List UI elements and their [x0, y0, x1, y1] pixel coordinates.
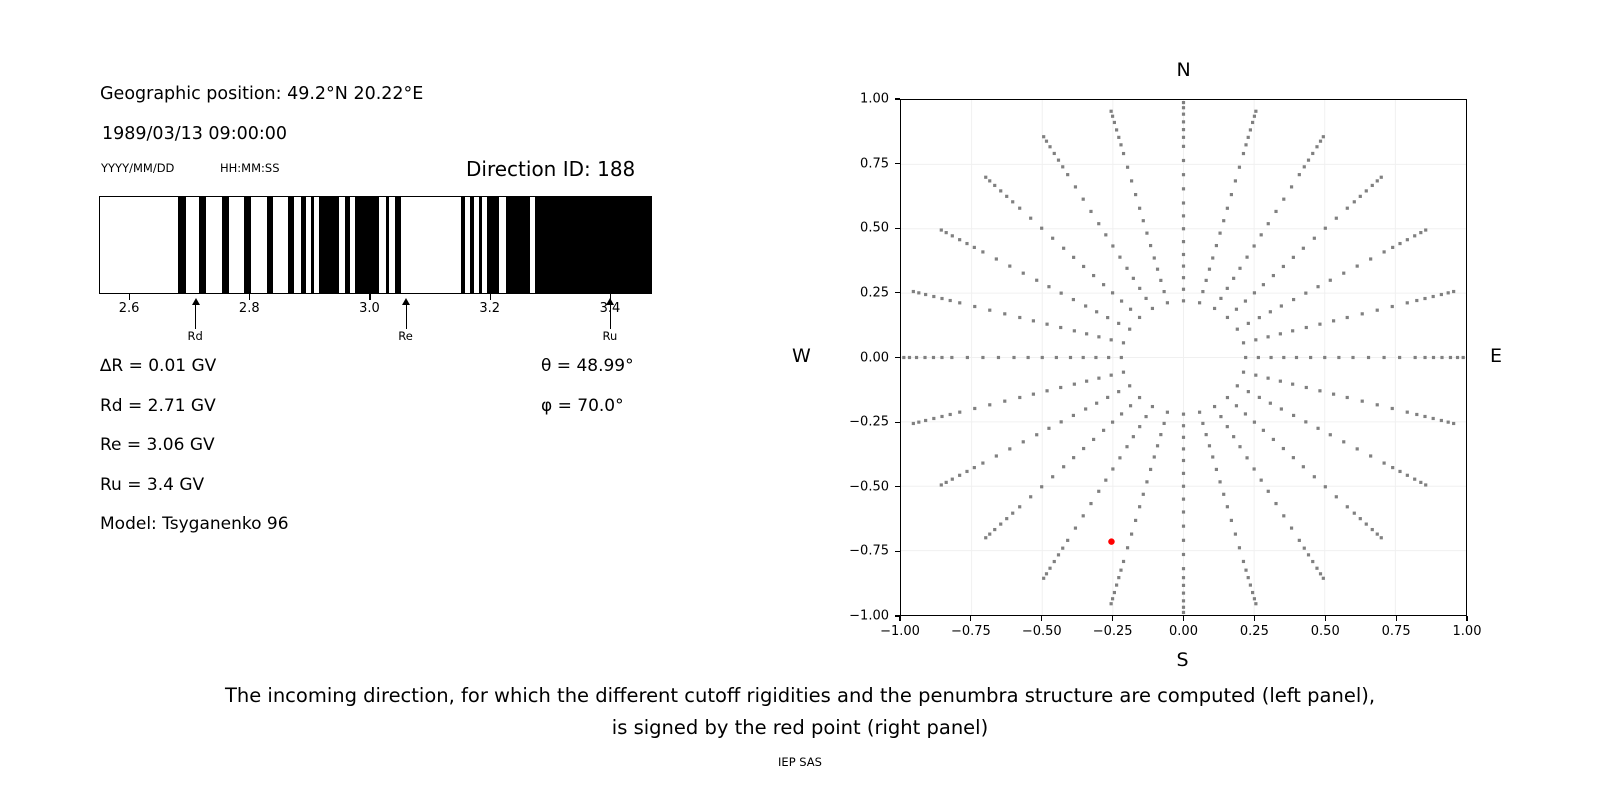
direction-point — [1110, 374, 1113, 377]
direction-point — [1315, 145, 1318, 148]
y-tick-label: −1.00 — [836, 609, 889, 624]
direction-point — [1182, 539, 1185, 542]
direction-point — [1055, 356, 1058, 359]
direction-point — [1245, 256, 1248, 259]
direction-point — [1282, 447, 1285, 450]
direction-point — [1346, 207, 1349, 210]
direction-point — [1242, 560, 1245, 563]
direction-point — [1415, 299, 1418, 302]
direction-point — [1230, 193, 1233, 196]
direction-point — [1084, 407, 1087, 410]
penumbra-band — [479, 197, 483, 293]
y-tick — [895, 551, 900, 552]
direction-point — [1159, 433, 1162, 436]
direction-point — [1106, 396, 1109, 399]
date-format-hint: YYYY/MM/DD — [101, 161, 174, 175]
caption-line-2: is signed by the red point (right panel) — [0, 712, 1600, 744]
direction-point — [1234, 533, 1237, 536]
direction-point — [1182, 187, 1185, 190]
direction-point — [1045, 389, 1048, 392]
direction-point — [1018, 207, 1021, 210]
direction-point — [940, 228, 943, 231]
direction-point — [1302, 247, 1305, 250]
direction-point — [1059, 326, 1062, 329]
direction-point — [1305, 386, 1308, 389]
direction-point — [1258, 396, 1261, 399]
rigidity-marker-label: Ru — [603, 329, 618, 343]
direction-point — [1232, 435, 1235, 438]
direction-point — [1138, 316, 1141, 319]
direction-point — [1053, 152, 1056, 155]
direction-point — [981, 356, 984, 359]
direction-point — [997, 356, 1000, 359]
direction-point — [1182, 288, 1185, 291]
direction-point — [1018, 505, 1021, 508]
direction-point — [1267, 222, 1270, 225]
direction-point — [1316, 427, 1319, 430]
direction-point — [1371, 528, 1374, 531]
direction-point — [1380, 536, 1383, 539]
penumbra-band — [199, 197, 206, 293]
direction-point — [966, 356, 969, 359]
direction-point — [1111, 244, 1114, 247]
direction-point — [1035, 433, 1038, 436]
penumbra-band — [178, 197, 186, 293]
direction-point — [1118, 256, 1121, 259]
penumbra-band — [487, 197, 499, 293]
direction-point — [1449, 356, 1452, 359]
direction-point — [1182, 592, 1185, 595]
direction-point — [1095, 402, 1098, 405]
y-tick — [895, 422, 900, 423]
direction-point — [917, 421, 920, 424]
direction-point — [940, 483, 943, 486]
direction-point — [908, 356, 911, 359]
direction-point — [945, 481, 948, 484]
penumbra-tick — [490, 294, 491, 300]
direction-point — [1122, 371, 1125, 374]
direction-point — [1110, 338, 1113, 341]
direction-point — [1371, 184, 1374, 187]
direction-point — [1452, 422, 1455, 425]
direction-point — [1280, 304, 1283, 307]
direction-point — [1182, 567, 1185, 570]
parameter-line: Re = 3.06 GV — [100, 435, 215, 455]
penumbra-band — [355, 197, 379, 293]
y-tick — [895, 163, 900, 164]
y-tick — [895, 98, 900, 99]
direction-point — [1205, 279, 1208, 282]
direction-point — [1182, 201, 1185, 204]
direction-point — [1089, 210, 1092, 213]
direction-point — [1247, 576, 1250, 579]
direction-point — [1324, 227, 1327, 230]
direction-point — [1095, 310, 1098, 313]
compass-label-west: W — [792, 345, 811, 367]
direction-point — [1215, 244, 1218, 247]
direction-point — [1182, 128, 1185, 131]
direction-point — [1244, 299, 1247, 302]
direction-point — [1424, 483, 1427, 486]
x-tick — [970, 616, 971, 621]
caption-line-1: The incoming direction, for which the di… — [0, 680, 1600, 712]
direction-point — [1251, 591, 1254, 594]
direction-point — [1269, 402, 1272, 405]
direction-point — [1138, 505, 1141, 508]
direction-point — [1122, 341, 1125, 344]
direction-point — [1398, 242, 1401, 245]
direction-point — [1085, 380, 1088, 383]
direction-point — [1260, 233, 1263, 236]
direction-point — [1051, 237, 1054, 240]
direction-point — [1419, 481, 1422, 484]
direction-point — [981, 250, 984, 253]
direction-point — [1040, 485, 1043, 488]
direction-point — [1235, 308, 1238, 311]
direction-point — [1251, 121, 1254, 124]
direction-point — [1247, 390, 1250, 393]
direction-point — [1182, 472, 1185, 475]
direction-point — [1315, 567, 1318, 570]
direction-point — [1166, 301, 1169, 304]
direction-point — [1008, 264, 1011, 267]
direction-point — [1423, 297, 1426, 300]
direction-point — [1307, 553, 1310, 556]
y-tick — [895, 357, 900, 358]
direction-point — [1182, 101, 1185, 104]
direction-point — [1365, 523, 1368, 526]
direction-point — [1452, 290, 1455, 293]
direction-point — [1298, 539, 1301, 542]
direction-point — [1304, 292, 1307, 295]
direction-point — [1254, 338, 1257, 341]
direction-point — [1062, 247, 1065, 250]
direction-point — [1072, 256, 1075, 259]
direction-point — [1266, 335, 1269, 338]
direction-point — [1045, 140, 1048, 143]
direction-point — [995, 454, 998, 457]
direction-point — [1267, 490, 1270, 493]
direction-point — [1346, 505, 1349, 508]
penumbra-band — [319, 197, 339, 293]
direction-point — [1238, 267, 1241, 270]
direction-point — [1182, 264, 1185, 267]
x-tick-label: 0.50 — [1311, 624, 1340, 639]
direction-point — [1391, 407, 1394, 410]
direction-point — [1198, 411, 1201, 414]
direction-point — [1219, 297, 1222, 300]
direction-point — [949, 413, 952, 416]
direction-point — [1066, 539, 1069, 542]
direction-point — [1029, 217, 1032, 220]
direction-point — [1074, 527, 1077, 530]
direction-point — [1149, 468, 1152, 471]
direction-point — [1249, 583, 1252, 586]
direction-point — [1218, 232, 1221, 235]
direction-point — [1003, 400, 1006, 403]
direction-point — [1115, 128, 1118, 131]
direction-point — [1415, 413, 1418, 416]
direction-point — [988, 179, 991, 182]
direction-point — [1291, 329, 1294, 332]
direction-point — [1208, 444, 1211, 447]
direction-point — [1008, 447, 1011, 450]
direction-point — [1011, 200, 1014, 203]
direction-point — [1313, 475, 1316, 478]
direction-point — [1323, 356, 1326, 359]
direction-point — [1182, 606, 1185, 609]
direction-point — [958, 411, 961, 414]
direction-point — [1082, 198, 1085, 201]
direction-point — [1201, 422, 1204, 425]
direction-point — [1238, 166, 1241, 169]
direction-point — [1060, 292, 1063, 295]
direction-point — [1126, 546, 1129, 549]
direction-point — [1253, 115, 1256, 118]
direction-point — [1226, 505, 1229, 508]
direction-point — [1332, 393, 1335, 396]
direction-point — [1144, 415, 1147, 418]
direction-point — [1335, 217, 1338, 220]
direction-point — [1359, 517, 1362, 520]
direction-point — [1247, 136, 1250, 139]
direction-point — [1003, 312, 1006, 315]
direction-point — [1253, 421, 1256, 424]
direction-point — [1084, 304, 1087, 307]
direction-point — [1107, 356, 1110, 359]
direction-point — [1391, 246, 1394, 249]
direction-point — [1244, 143, 1247, 146]
direction-point — [1298, 173, 1301, 176]
direction-point — [1383, 461, 1386, 464]
direction-point — [1057, 159, 1060, 162]
direction-point — [1254, 374, 1257, 377]
compass-label-north: N — [1177, 59, 1191, 81]
direction-point — [1376, 403, 1379, 406]
direction-point — [1309, 356, 1312, 359]
direction-point — [1406, 301, 1409, 304]
direction-point — [1342, 272, 1345, 275]
direction-point — [958, 238, 961, 241]
direction-point — [1102, 283, 1105, 286]
direction-point — [1053, 560, 1056, 563]
direction-point — [1380, 176, 1383, 179]
direction-point — [1182, 214, 1185, 217]
y-tick — [895, 292, 900, 293]
direction-point — [1266, 377, 1269, 380]
direction-point — [1319, 572, 1322, 575]
direction-point — [1048, 567, 1051, 570]
direction-point — [1163, 290, 1166, 293]
direction-point — [1138, 425, 1141, 428]
parameter-line: Ru = 3.4 GV — [100, 475, 204, 495]
direction-point — [1151, 405, 1154, 408]
direction-point — [1005, 517, 1008, 520]
direction-point — [1151, 307, 1154, 310]
direction-point — [1097, 490, 1100, 493]
penumbra-band — [267, 197, 273, 293]
direction-point — [1018, 316, 1021, 319]
direction-point — [981, 461, 984, 464]
direction-point — [1115, 583, 1118, 586]
direction-point — [1419, 231, 1422, 234]
direction-point — [988, 403, 991, 406]
angle-parameter-line: φ = 70.0° — [541, 396, 624, 416]
direction-point — [1215, 468, 1218, 471]
direction-point — [902, 356, 905, 359]
compass-label-south: S — [1177, 649, 1189, 671]
direction-point — [1097, 377, 1100, 380]
direction-map-panel: −1.00−0.75−0.50−0.250.000.250.500.751.00… — [790, 30, 1580, 650]
direction-point — [1447, 421, 1450, 424]
direction-point — [1145, 232, 1148, 235]
y-tick — [895, 486, 900, 487]
direction-point — [1274, 502, 1277, 505]
direction-point — [965, 242, 968, 245]
direction-point — [1120, 412, 1123, 415]
direction-point — [984, 176, 987, 179]
direction-point — [912, 422, 915, 425]
y-tick-label: 0.00 — [836, 350, 889, 365]
figure-caption: The incoming direction, for which the di… — [0, 680, 1600, 744]
direction-point — [1218, 480, 1221, 483]
direction-point — [924, 293, 927, 296]
direction-point — [1222, 219, 1225, 222]
direction-point — [1226, 207, 1229, 210]
x-tick — [1112, 616, 1113, 621]
direction-point — [1042, 577, 1045, 580]
direction-point — [1329, 433, 1332, 436]
direction-point — [1316, 285, 1319, 288]
direction-point — [1153, 455, 1156, 458]
direction-point — [1282, 198, 1285, 201]
direction-point — [1182, 459, 1185, 462]
direction-point — [1295, 356, 1298, 359]
direction-point — [1303, 547, 1306, 550]
penumbra-tick-label: 3.2 — [479, 301, 500, 316]
direction-point — [1072, 456, 1075, 459]
direction-point — [940, 297, 943, 300]
direction-point — [1383, 250, 1386, 253]
direction-point — [1072, 298, 1075, 301]
direction-point — [958, 474, 961, 477]
direction-point — [1182, 485, 1185, 488]
penumbra-tick-label: 3.0 — [359, 301, 380, 316]
direction-point — [1111, 421, 1114, 424]
direction-point — [1272, 274, 1275, 277]
selected-direction-point — [1108, 538, 1114, 544]
penumbra-band — [311, 197, 314, 293]
direction-point — [940, 415, 943, 418]
y-tick-label: 0.25 — [836, 285, 889, 300]
direction-point — [1144, 297, 1147, 300]
direction-point — [1128, 384, 1131, 387]
direction-point — [1182, 227, 1185, 230]
direction-point — [1318, 323, 1321, 326]
direction-point — [1106, 316, 1109, 319]
arrow-shaft — [406, 303, 407, 329]
direction-point — [1113, 591, 1116, 594]
direction-point — [1398, 470, 1401, 473]
direction-point — [1125, 267, 1128, 270]
footer-label: IEP SAS — [0, 755, 1600, 769]
direction-point — [1182, 413, 1185, 416]
direction-point — [1234, 179, 1237, 182]
direction-point — [1057, 553, 1060, 556]
direction-point — [1032, 393, 1035, 396]
direction-point — [1242, 152, 1245, 155]
direction-point — [1104, 479, 1107, 482]
penumbra-tick-label: 2.6 — [119, 301, 140, 316]
penumbra-tick — [249, 294, 250, 300]
direction-point — [1304, 420, 1307, 423]
direction-point — [1182, 240, 1185, 243]
direction-point — [1156, 268, 1159, 271]
direction-point — [1432, 356, 1435, 359]
direction-point — [1110, 110, 1113, 113]
direction-point — [1307, 159, 1310, 162]
penumbra-band — [222, 197, 229, 293]
direction-point — [917, 291, 920, 294]
direction-point — [1262, 283, 1265, 286]
direction-point — [1198, 301, 1201, 304]
direction-point — [1353, 200, 1356, 203]
direction-point — [1406, 411, 1409, 414]
direction-point — [1346, 316, 1349, 319]
direction-point — [1361, 312, 1364, 315]
penumbra-band — [288, 197, 293, 293]
direction-point — [1060, 420, 1063, 423]
rigidity-marker-label: Rd — [188, 329, 203, 343]
y-tick-label: 0.50 — [836, 221, 889, 236]
direction-point — [1048, 145, 1051, 148]
direction-point — [1182, 436, 1185, 439]
direction-point — [1245, 456, 1248, 459]
direction-point — [1041, 356, 1044, 359]
direction-point — [1113, 121, 1116, 124]
direction-point — [1153, 256, 1156, 259]
direction-point — [1132, 435, 1135, 438]
direction-point — [1129, 308, 1132, 311]
direction-point — [932, 356, 935, 359]
direction-point — [1142, 219, 1145, 222]
direction-point — [1356, 447, 1359, 450]
direction-point — [1035, 279, 1038, 282]
x-tick — [899, 616, 900, 621]
direction-point — [999, 189, 1002, 192]
direction-point — [1244, 412, 1247, 415]
direction-point — [1391, 466, 1394, 469]
direction-point — [1122, 560, 1125, 563]
penumbra-band — [395, 197, 401, 293]
penumbra-band — [244, 197, 251, 293]
parameter-line: Rd = 2.71 GV — [100, 396, 216, 416]
direction-point — [1130, 179, 1133, 182]
direction-point — [1182, 145, 1185, 148]
direction-point — [1311, 560, 1314, 563]
penumbra-tick — [129, 294, 130, 300]
x-tick — [1041, 616, 1042, 621]
direction-point — [1291, 383, 1294, 386]
y-tick-label: −0.50 — [836, 479, 889, 494]
direction-point — [1128, 328, 1131, 331]
direction-point — [1313, 237, 1316, 240]
direction-point — [1082, 514, 1085, 517]
direction-point — [1208, 268, 1211, 271]
direction-point — [1279, 332, 1282, 335]
direction-point — [1117, 390, 1120, 393]
direction-point — [1242, 341, 1245, 344]
